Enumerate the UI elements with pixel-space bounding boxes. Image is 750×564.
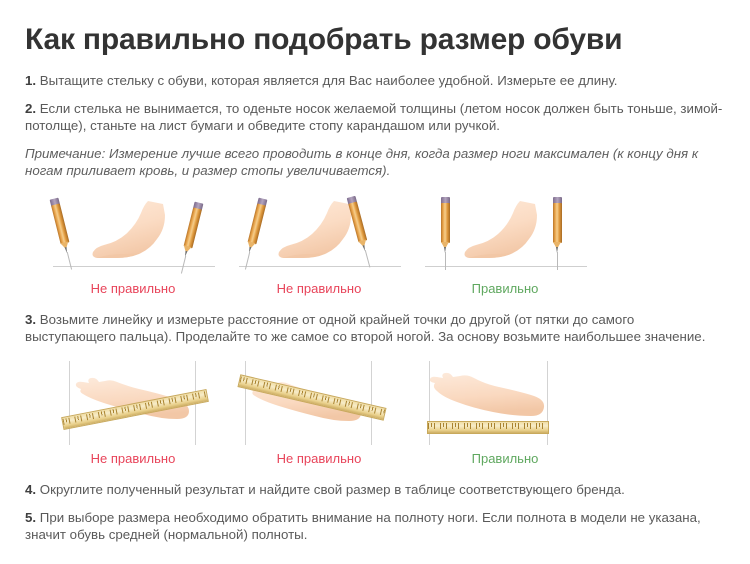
step-3-number: 3.: [25, 312, 36, 327]
figure-pencil-2: Не правильно: [233, 189, 405, 297]
figure-ruler-1-art: [47, 359, 219, 447]
step-4-number: 4.: [25, 482, 36, 497]
pencil-icon: [50, 198, 72, 255]
step-1-number: 1.: [25, 73, 36, 88]
foot-top-illustration: [427, 369, 547, 421]
step-4-paragraph: 4. Округлите полученный результат и найд…: [25, 481, 728, 498]
figure-pencil-2-caption: Не правильно: [233, 281, 405, 297]
guide-line-right: [371, 361, 372, 445]
figure-pencil-2-art: [233, 189, 405, 277]
foot-side-illustration: [463, 201, 555, 267]
figure-pencil-1: Не правильно: [47, 189, 219, 297]
step-2-text: Если стелька не вынимается, то оденьте н…: [25, 101, 722, 133]
figure-ruler-1: Не правильно: [47, 359, 219, 467]
figure-pencil-3: Правильно: [419, 189, 591, 297]
figure-ruler-2-caption: Не правильно: [233, 451, 405, 467]
step-1-text: Вытащите стельку с обуви, которая являет…: [36, 73, 617, 88]
guide-line-left: [69, 361, 70, 445]
figure-ruler-3-art: [419, 359, 591, 447]
step-2-number: 2.: [25, 101, 36, 116]
ruler-figure-row: Не правильно: [25, 359, 728, 467]
step-5-paragraph: 5. При выборе размера необходимо обратит…: [25, 509, 728, 543]
step-3-paragraph: 3. Возьмите линейку и измерьте расстояни…: [25, 311, 728, 345]
pencil-icon: [553, 197, 562, 253]
pencil-icon: [181, 202, 203, 259]
figure-ruler-3: Правильно: [419, 359, 591, 467]
figure-pencil-3-caption: Правильно: [419, 281, 591, 297]
figure-ruler-2-art: [233, 359, 405, 447]
page-title: Как правильно подобрать размер обуви: [25, 22, 728, 58]
step-1-paragraph: 1. Вытащите стельку с обуви, которая явл…: [25, 72, 728, 89]
step-5-text: При выборе размера необходимо обратить в…: [25, 510, 701, 542]
step-5-number: 5.: [25, 510, 36, 525]
figure-ruler-1-caption: Не правильно: [47, 451, 219, 467]
article-page: Как правильно подобрать размер обуви 1. …: [0, 0, 750, 564]
step-3-text: Возьмите линейку и измерьте расстояние о…: [25, 312, 705, 344]
figure-ruler-2: Не правильно: [233, 359, 405, 467]
foot-side-illustration: [91, 201, 183, 267]
pencil-icon: [441, 197, 450, 253]
figure-pencil-1-art: [47, 189, 219, 277]
pencil-figure-row: Не правильно: [25, 189, 728, 297]
note-paragraph: Примечание: Измерение лучше всего провод…: [25, 145, 728, 179]
step-2-paragraph: 2. Если стелька не вынимается, то оденьт…: [25, 100, 728, 134]
step-4-text: Округлите полученный результат и найдите…: [36, 482, 625, 497]
pencil-icon: [245, 198, 267, 255]
figure-ruler-3-caption: Правильно: [419, 451, 591, 467]
figure-pencil-3-art: [419, 189, 591, 277]
ruler-icon: [427, 421, 549, 434]
figure-pencil-1-caption: Не правильно: [47, 281, 219, 297]
